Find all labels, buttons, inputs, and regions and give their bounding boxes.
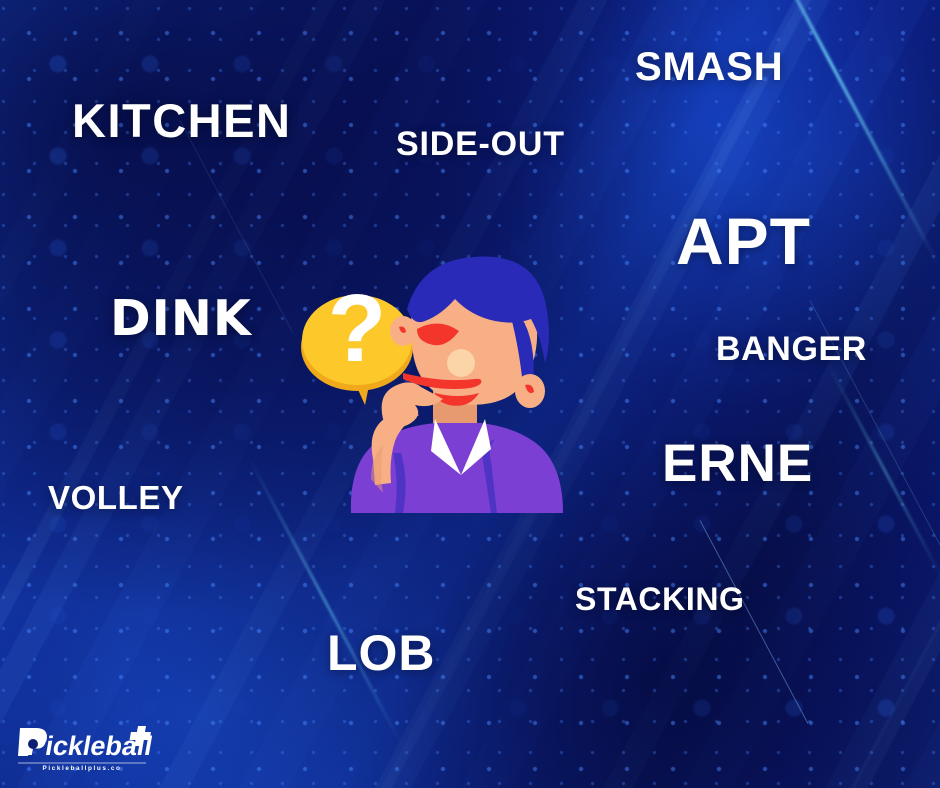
- term-volley: VOLLEY: [48, 481, 184, 514]
- term-lob: LOB: [327, 628, 436, 678]
- term-kitchen: KITCHEN: [72, 97, 291, 144]
- term-stacking: STACKING: [575, 583, 745, 615]
- term-apt: APT: [676, 208, 811, 274]
- term-smash: SMASH: [635, 47, 783, 87]
- brand-logo: Pickleball Pickleballplus.co: [14, 722, 154, 774]
- poster-canvas: KITCHEN SIDE-OUT SMASH APT BANGER ERNE D…: [0, 0, 940, 788]
- cheek: [447, 349, 475, 377]
- term-erne: ERNE: [662, 437, 813, 490]
- term-side-out: SIDE-OUT: [396, 127, 565, 161]
- thinking-person-illustration: ?: [295, 243, 570, 513]
- logo-tagline: Pickleballplus.co: [42, 765, 121, 772]
- term-banger: BANGER: [716, 332, 867, 366]
- question-mark-glyph: ?: [328, 275, 387, 382]
- logo-paddle-dot: [28, 739, 38, 749]
- term-dink: DINK: [110, 294, 252, 343]
